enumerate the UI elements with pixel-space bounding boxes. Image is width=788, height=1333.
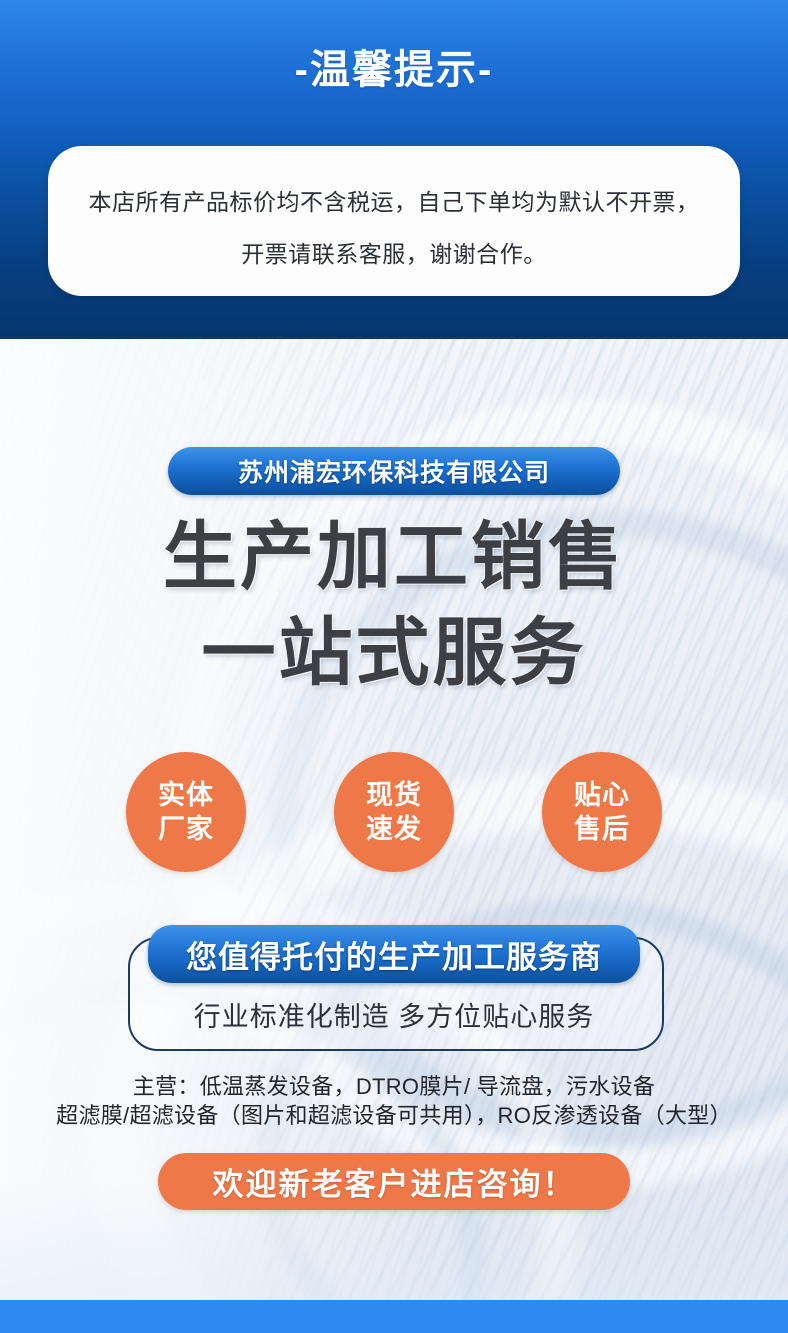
trust-title-label: 您值得托付的生产加工服务商 <box>186 932 602 977</box>
headline-line-2: 一站式服务 <box>0 610 788 696</box>
feature-circle-service-line2: 售后 <box>574 812 630 846</box>
notice-card: 本店所有产品标价均不含税运，自己下单均为默认不开票，开票请联系客服，谢谢合作。 <box>48 146 740 296</box>
feature-circle-factory-line1: 实体 <box>158 778 214 812</box>
products-line-2: 超滤膜/超滤设备（图片和超滤设备可共用），RO反渗透设备（大型） <box>20 1101 768 1130</box>
notice-title: -温馨提示- <box>0 42 788 98</box>
feature-circle-factory-line2: 厂家 <box>158 812 214 846</box>
cta-button[interactable]: 欢迎新老客户进店咨询！ <box>158 1153 630 1210</box>
cta-button-label: 欢迎新老客户进店咨询！ <box>213 1159 576 1204</box>
feature-circle-stock-line2: 速发 <box>366 812 422 846</box>
headline-line-1: 生产加工销售 <box>0 514 788 600</box>
products-summary: 主营：低温蒸发设备，DTRO膜片/ 导流盘，污水设备 超滤膜/超滤设备（图片和超… <box>20 1072 768 1130</box>
company-name-label: 苏州浦宏环保科技有限公司 <box>238 453 550 489</box>
feature-circle-factory: 实体 厂家 <box>126 752 246 872</box>
feature-circle-service: 贴心 售后 <box>542 752 662 872</box>
products-line-1: 主营：低温蒸发设备，DTRO膜片/ 导流盘，污水设备 <box>20 1072 768 1101</box>
trust-subtitle: 行业标准化制造 多方位贴心服务 <box>128 994 660 1040</box>
notice-banner: -温馨提示- 本店所有产品标价均不含税运，自己下单均为默认不开票，开票请联系客服… <box>0 0 788 339</box>
notice-card-text: 本店所有产品标价均不含税运，自己下单均为默认不开票，开票请联系客服，谢谢合作。 <box>86 176 702 280</box>
feature-circle-stock: 现货 速发 <box>334 752 454 872</box>
promo-page: -温馨提示- 本店所有产品标价均不含税运，自己下单均为默认不开票，开票请联系客服… <box>0 0 788 1333</box>
trust-title-badge: 您值得托付的生产加工服务商 <box>148 925 640 983</box>
company-name-badge: 苏州浦宏环保科技有限公司 <box>168 447 620 495</box>
bottom-accent-bar <box>0 1300 788 1333</box>
feature-circle-service-line1: 贴心 <box>574 778 630 812</box>
feature-circles: 实体 厂家 现货 速发 贴心 售后 <box>126 752 662 872</box>
feature-circle-stock-line1: 现货 <box>366 778 422 812</box>
